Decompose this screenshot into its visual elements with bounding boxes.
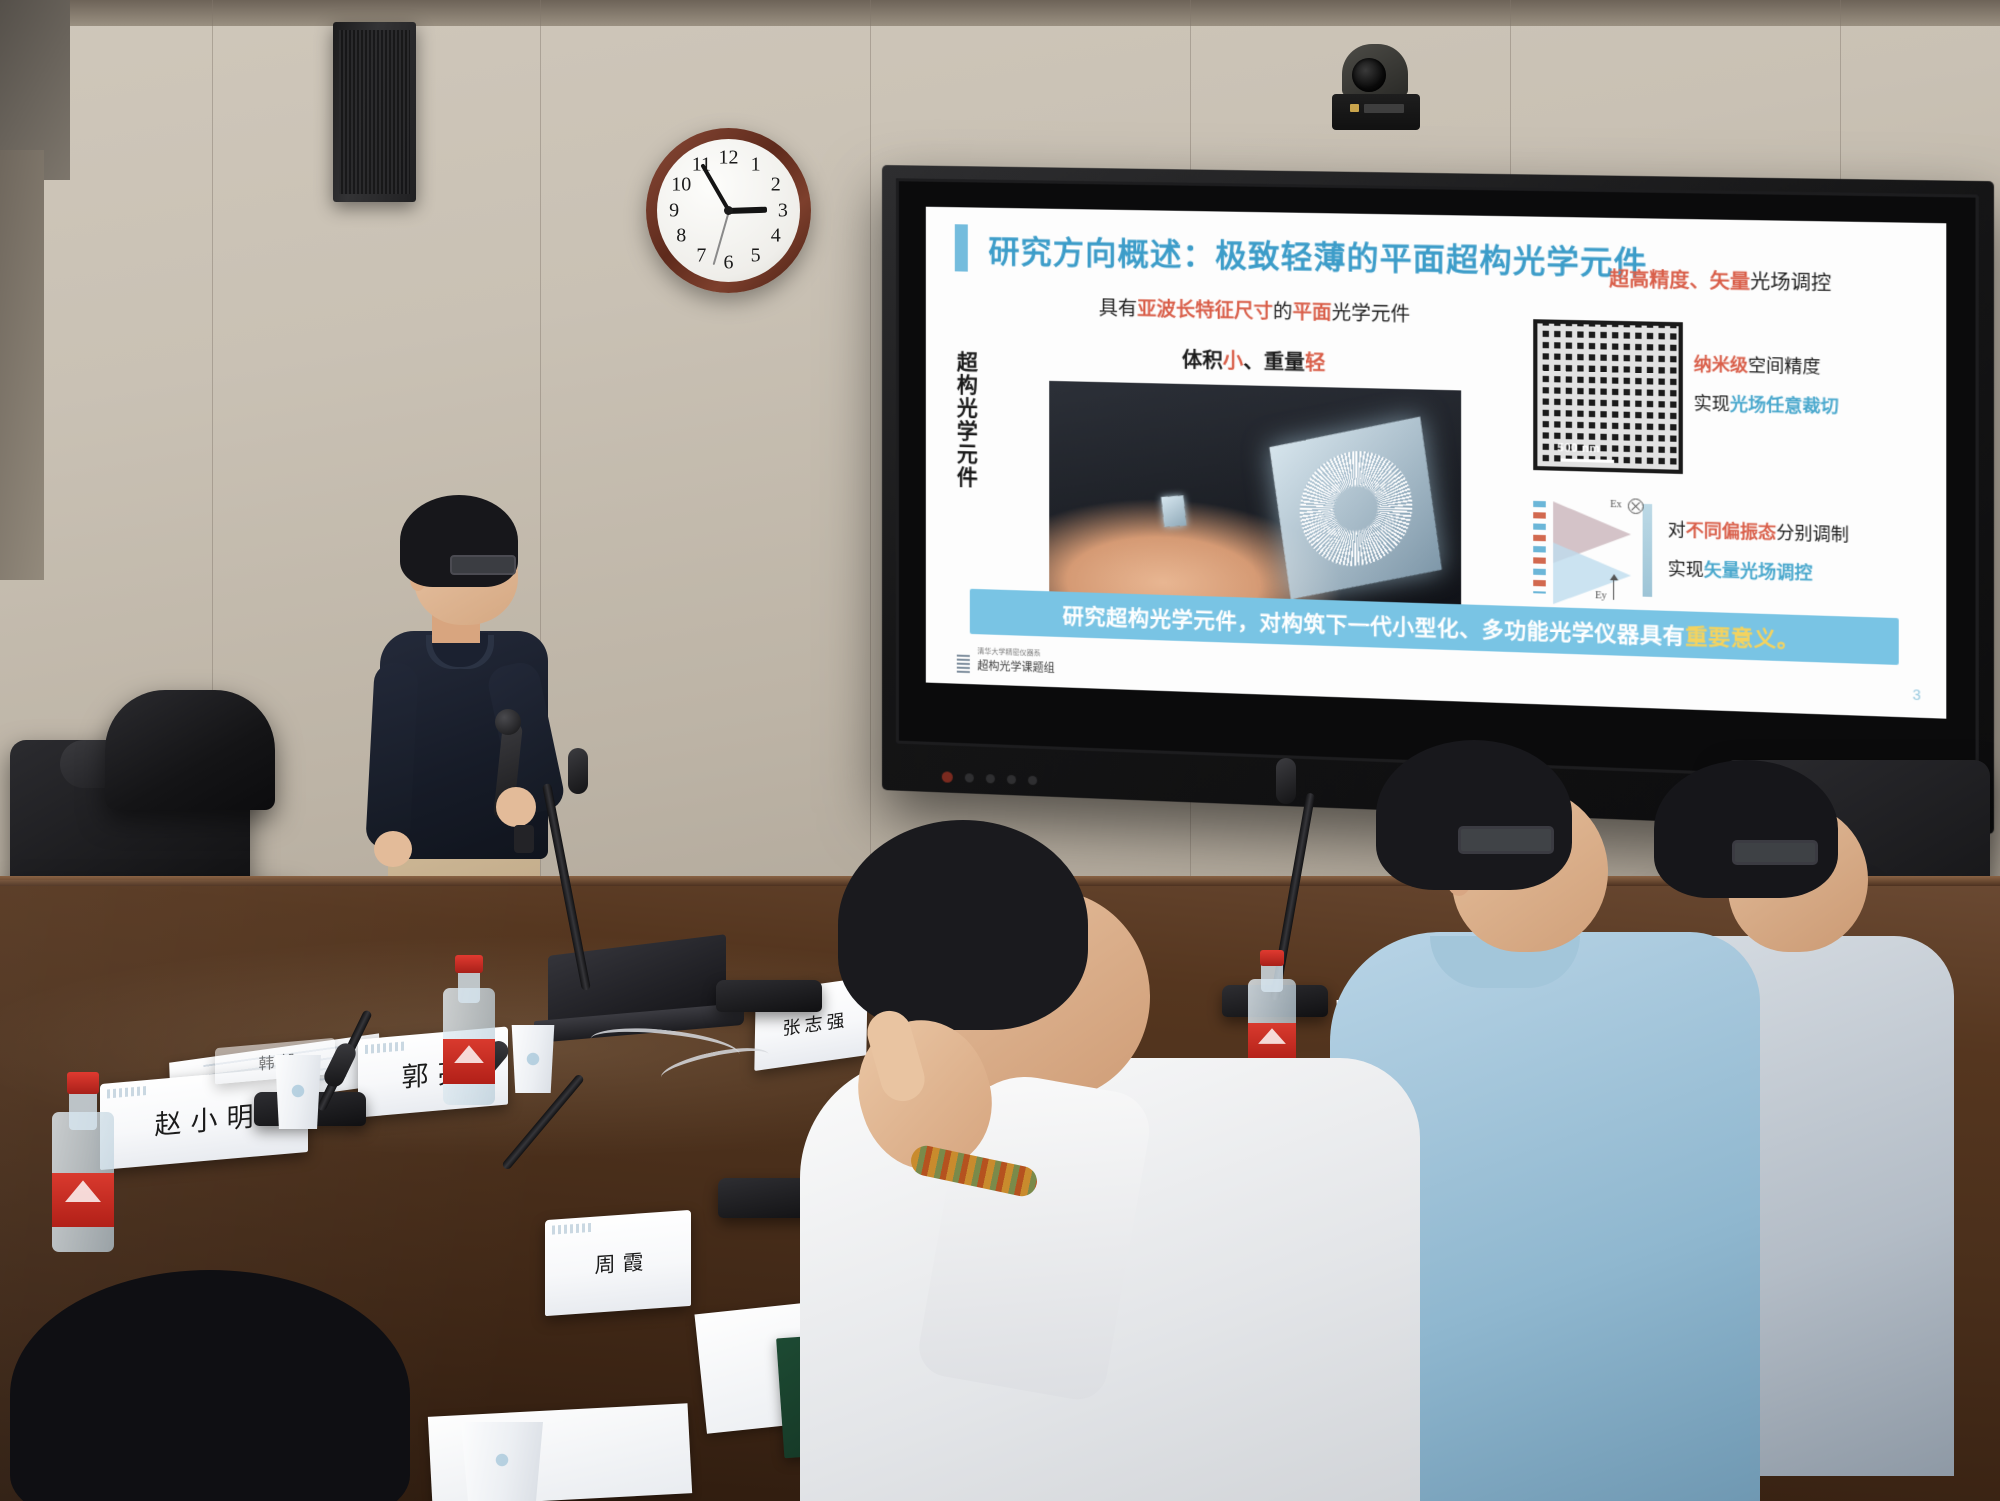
slide-side-label: 超构光学元件 (947, 350, 977, 489)
pol-arrow-icon (1613, 577, 1615, 600)
wall-left-column (0, 150, 44, 580)
sem-scale-label: 500 nm (1557, 442, 1600, 455)
water-bottle[interactable] (443, 955, 495, 1105)
clock-face: 12 1 2 3 4 5 6 7 8 9 10 11 (657, 139, 800, 282)
line2-pre: 体积 (1182, 347, 1223, 372)
paper-cup[interactable] (452, 1422, 552, 1501)
rt4-highlight: 矢量光场调控 (1704, 561, 1813, 585)
paper-cup[interactable] (507, 1025, 559, 1093)
slide-right-text-2: 实现光场任意裁切 (1694, 388, 1839, 417)
rt1-rest: 空间精度 (1748, 356, 1821, 378)
display-button-icon[interactable] (1007, 774, 1016, 783)
display-bezel: 研究方向概述：极致轻薄的平面超构光学元件 超构光学元件 具有亚波长特征尺寸的平面… (896, 178, 1979, 784)
line2-highlight-2: 轻 (1305, 350, 1326, 375)
presenter-glasses-icon (450, 555, 516, 575)
banner-gold-text: 重要意义。 (1685, 623, 1799, 652)
power-button-icon[interactable] (942, 771, 953, 782)
slide-footer-logo: 清华大学精密仪器系 超构光学课题组 (957, 645, 1054, 677)
camera-lens-icon (1352, 58, 1386, 92)
clock-numeral: 4 (771, 225, 781, 248)
rt3-rest: 分别调制 (1776, 523, 1849, 546)
metalens-chip-small (1162, 495, 1187, 527)
clock-numeral: 2 (771, 173, 781, 196)
pol-label-ey: Ey (1595, 590, 1607, 602)
name-placard[interactable]: 周霞 (545, 1210, 691, 1316)
clock-numeral: 6 (724, 252, 734, 275)
pol-label-ex: Ex (1610, 499, 1622, 511)
slide-right-heading: 超高精度、矢量光场调控 (1518, 263, 1925, 298)
polarization-plate (1643, 504, 1653, 597)
clock-numeral: 7 (696, 245, 706, 268)
presentation-slide: 研究方向概述：极致轻薄的平面超构光学元件 超构光学元件 具有亚波长特征尺寸的平面… (926, 207, 1946, 719)
water-bottle[interactable] (52, 1072, 114, 1252)
rt2-pre: 实现 (1694, 394, 1730, 416)
line2-highlight-1: 小 (1223, 348, 1243, 373)
display-button-icon[interactable] (965, 773, 974, 782)
attendee-bottom-left-hair (10, 1270, 410, 1501)
clock-minute-hand (700, 163, 730, 212)
chair-back[interactable] (105, 690, 275, 810)
metalens-chip-illustration (1270, 416, 1443, 599)
sem-micrograph: 500 nm (1533, 319, 1683, 474)
banner-bold-2: 小型化、多功能 (1392, 614, 1549, 644)
slide-line-1: 具有亚波长特征尺寸的平面光学元件 (1034, 292, 1477, 328)
cup-logo-icon (522, 1048, 544, 1070)
bottle-cap (67, 1072, 99, 1094)
line2-mid: 、重量 (1243, 348, 1305, 374)
wall-top-trim (0, 0, 2000, 26)
presentation-clicker[interactable] (514, 825, 534, 853)
banner-mid: ，对构筑下一代 (1237, 609, 1392, 638)
footer-org-small: 清华大学精密仪器系 (977, 647, 1040, 657)
presenter-left-hand (374, 831, 412, 867)
footer-org-main: 超构光学课题组 (977, 657, 1054, 677)
line1-post: 光学元件 (1332, 302, 1411, 326)
banner-text: 研究超构光学元件，对构筑下一代小型化、多功能光学仪器具有重要意义。 (1063, 599, 1800, 654)
presenter-right-hand (496, 787, 536, 827)
sem-scale-bar (1560, 459, 1614, 463)
pol-cross-circle-icon (1627, 498, 1643, 514)
attendee-foreground (800, 820, 1440, 1501)
clock-numeral: 1 (751, 153, 761, 176)
line1-highlight-2: 平面 (1293, 301, 1332, 324)
polarization-diagram: Ex Ey (1533, 494, 1657, 605)
paper-cup[interactable] (270, 1055, 326, 1129)
clock-numeral: 8 (676, 225, 686, 248)
rt3-highlight: 不同偏振态 (1686, 521, 1776, 544)
line1-highlight-1: 亚波长特征尺寸 (1137, 298, 1273, 323)
display-button-icon[interactable] (986, 774, 995, 783)
clock-numeral: 9 (669, 199, 679, 222)
interactive-display[interactable]: 研究方向概述：极致轻薄的平面超构光学元件 超构光学元件 具有亚波长特征尺寸的平面… (882, 165, 1994, 834)
banner-pre: 研究 (1063, 603, 1106, 629)
placard-name-text: 周霞 (586, 1246, 651, 1281)
attendee-foreground-hair (838, 820, 1088, 1030)
clock-numeral: 3 (778, 199, 788, 222)
polarization-stack (1533, 501, 1546, 594)
ceiling-speaker (333, 22, 416, 202)
rt4-pre: 实现 (1668, 560, 1704, 582)
clock-numeral: 10 (671, 173, 691, 196)
placard-name-text: 赵小明 (146, 1093, 263, 1142)
ptz-camera (1330, 38, 1422, 130)
rt1-highlight: 纳米级 (1694, 354, 1748, 376)
camera-led-icon (1350, 104, 1359, 112)
display-control-buttons[interactable] (942, 770, 1113, 789)
right-heading-highlight: 超高精度、矢量 (1609, 268, 1750, 293)
display-button-icon[interactable] (1028, 775, 1037, 784)
microphone-head (568, 748, 588, 794)
clock-center-pin (724, 206, 733, 215)
microphone-head (495, 709, 521, 735)
polarization-beam-2 (1553, 542, 1631, 606)
camera-label-plate (1364, 104, 1404, 113)
bottle-label (443, 1039, 495, 1084)
slide-right-text-4: 实现矢量光场调控 (1668, 554, 1813, 584)
footer-logo-mark-icon (957, 654, 970, 675)
banner-bold-1: 超构光学元件 (1106, 605, 1237, 634)
slide-right-text-3: 对不同偏振态分别调制 (1668, 515, 1849, 546)
line1-pre: 具有 (1099, 297, 1138, 320)
slide-page-number: 3 (1912, 686, 1920, 703)
clock-numeral: 12 (719, 146, 739, 169)
slide-line-2: 体积小、重量轻 (1034, 340, 1477, 379)
bottle-cap (455, 955, 482, 973)
cup-logo-icon (491, 1449, 513, 1471)
cup-logo-icon (287, 1080, 309, 1102)
bottle-label (52, 1173, 114, 1227)
right-heading-rest: 光场调控 (1750, 271, 1831, 295)
clock-numeral: 5 (751, 245, 761, 268)
rt2-highlight: 光场任意裁切 (1730, 394, 1839, 417)
conference-room-photo: 12 1 2 3 4 5 6 7 8 9 10 11 (0, 0, 2000, 1501)
microphone-head (1276, 758, 1296, 804)
banner-mid-2: 光学仪器具有 (1549, 619, 1685, 648)
slide-right-text-1: 纳米级空间精度 (1694, 349, 1821, 378)
placard-logo-icon (365, 1041, 405, 1053)
footer-org-text: 清华大学精密仪器系 超构光学课题组 (977, 646, 1054, 678)
line1-mid: 的 (1273, 301, 1293, 324)
clock-hour-hand (728, 206, 766, 213)
metalens-fingertip-photo (1049, 381, 1462, 609)
attendee-middle-glasses-icon (1458, 826, 1554, 854)
wall-clock: 12 1 2 3 4 5 6 7 8 9 10 11 (646, 128, 811, 293)
attendee-bottom-left (10, 1270, 440, 1501)
title-accent-bar (955, 224, 968, 272)
placard-logo-icon (552, 1223, 592, 1235)
rt3-pre: 对 (1668, 520, 1686, 541)
